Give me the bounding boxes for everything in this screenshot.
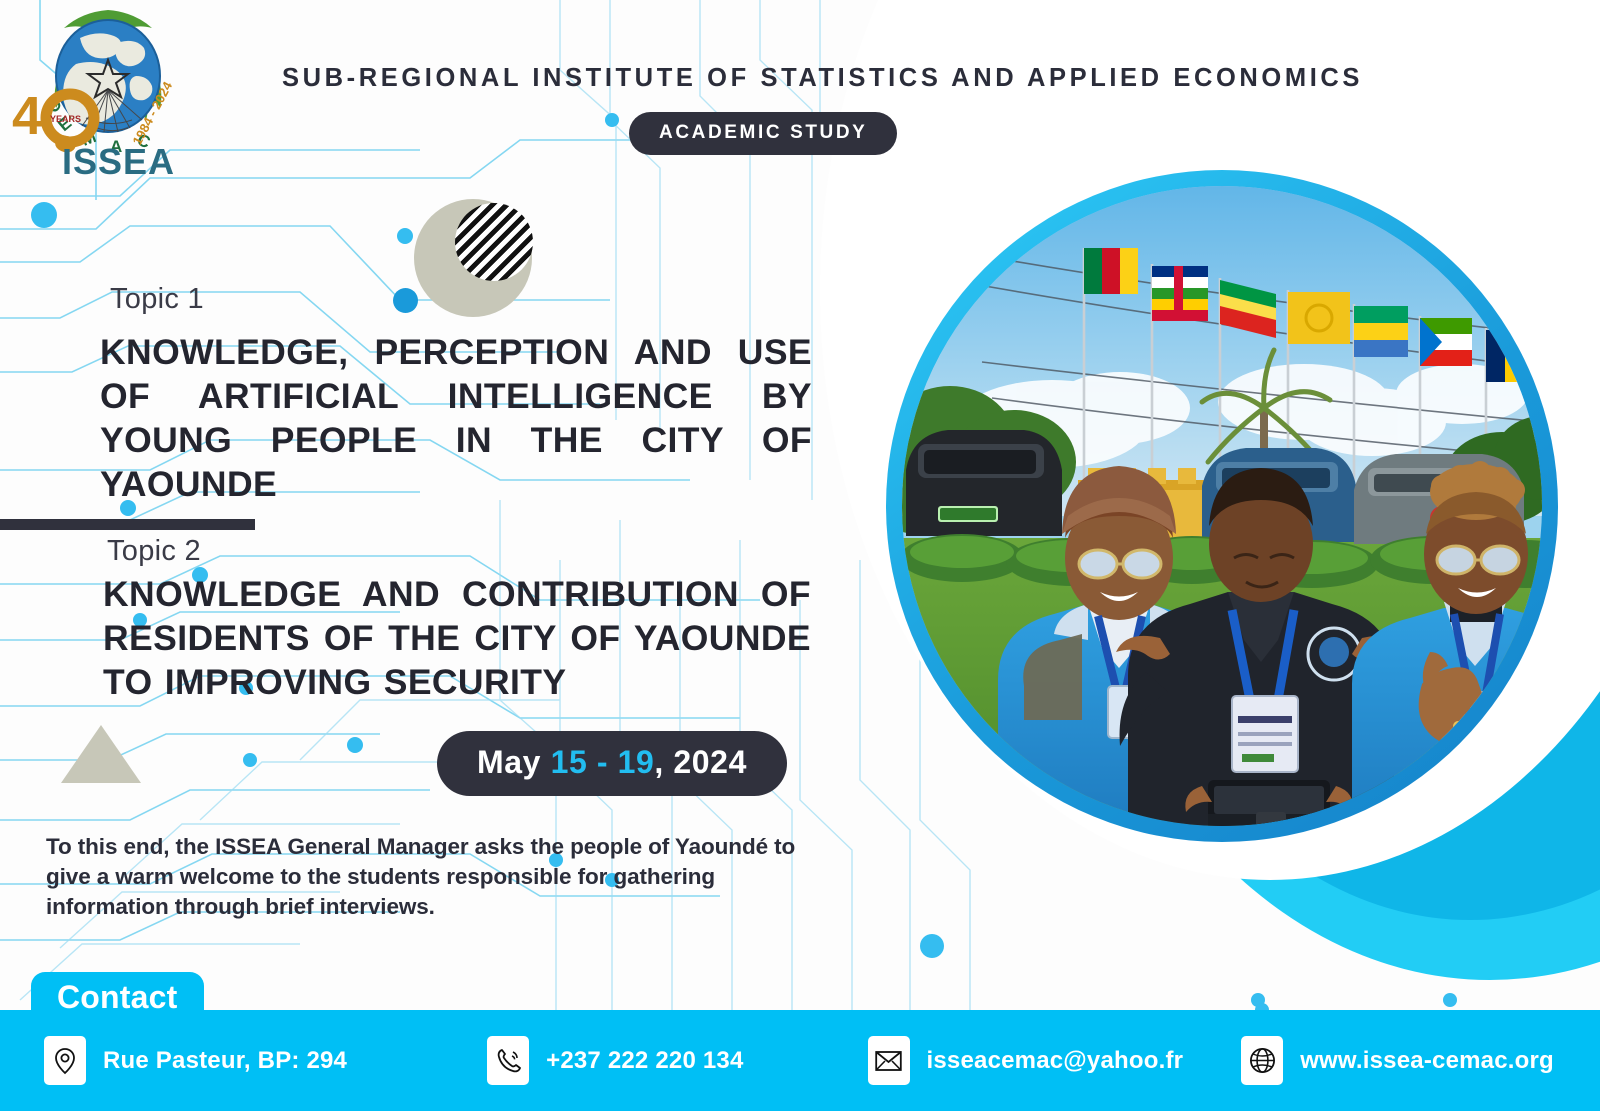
contact-address-value: Rue Pasteur, BP: 294 <box>103 1047 347 1075</box>
svg-text:YEARS: YEARS <box>50 114 81 124</box>
globe-icon <box>1241 1036 1283 1085</box>
beige-triangle-decoration <box>61 725 141 783</box>
blue-dot-decoration <box>393 288 418 313</box>
contact-website[interactable]: www.issea-cemac.org <box>1241 1036 1554 1085</box>
date-year: , 2024 <box>654 744 747 780</box>
date-day-end: 19 <box>618 744 655 780</box>
date-month: May <box>477 744 541 780</box>
photo-clip <box>902 186 1542 826</box>
topic-1-heading: KNOWLEDGE, PERCEPTION AND USE OF ARTIFIC… <box>100 330 812 506</box>
topic-divider <box>0 519 255 530</box>
contact-website-value: www.issea-cemac.org <box>1300 1047 1554 1075</box>
students-photo <box>902 186 1542 826</box>
topic-1-label: Topic 1 <box>110 283 204 316</box>
poster-canvas: C E M A C 4 YEARS 1984 - 2024 ISSEA SUB-… <box>0 0 1600 1111</box>
contact-phone-value: +237 222 220 134 <box>546 1047 743 1075</box>
svg-text:ISSEA: ISSEA <box>62 141 175 182</box>
contact-phone[interactable]: +237 222 220 134 <box>487 1036 743 1085</box>
date-day-start: 15 <box>551 744 588 780</box>
contact-footer-bar: Rue Pasteur, BP: 294 +237 222 220 134 <box>0 1010 1600 1111</box>
svg-text:4: 4 <box>12 86 42 146</box>
phone-icon <box>487 1036 529 1085</box>
date-separator: - <box>587 744 617 780</box>
topic-2-heading: KNOWLEDGE AND CONTRIBUTION OF RESIDENTS … <box>103 572 811 704</box>
envelope-icon <box>868 1036 910 1085</box>
invitation-note: To this end, the ISSEA General Manager a… <box>46 832 816 922</box>
contact-address[interactable]: Rue Pasteur, BP: 294 <box>44 1036 347 1085</box>
striped-circle-decoration <box>455 203 533 281</box>
photo-ring-frame <box>886 170 1558 842</box>
academic-study-badge: ACADEMIC STUDY <box>629 112 897 155</box>
contact-email[interactable]: isseacemac@yahoo.fr <box>868 1036 1184 1085</box>
location-pin-icon <box>44 1036 86 1085</box>
issea-cemac-logo: C E M A C 4 YEARS 1984 - 2024 ISSEA <box>8 2 208 182</box>
contact-email-value: isseacemac@yahoo.fr <box>927 1047 1184 1075</box>
date-badge: May 15 - 19, 2024 <box>437 731 787 796</box>
institute-title: SUB-REGIONAL INSTITUTE OF STATISTICS AND… <box>282 64 1372 93</box>
topic-2-label: Topic 2 <box>107 535 201 568</box>
